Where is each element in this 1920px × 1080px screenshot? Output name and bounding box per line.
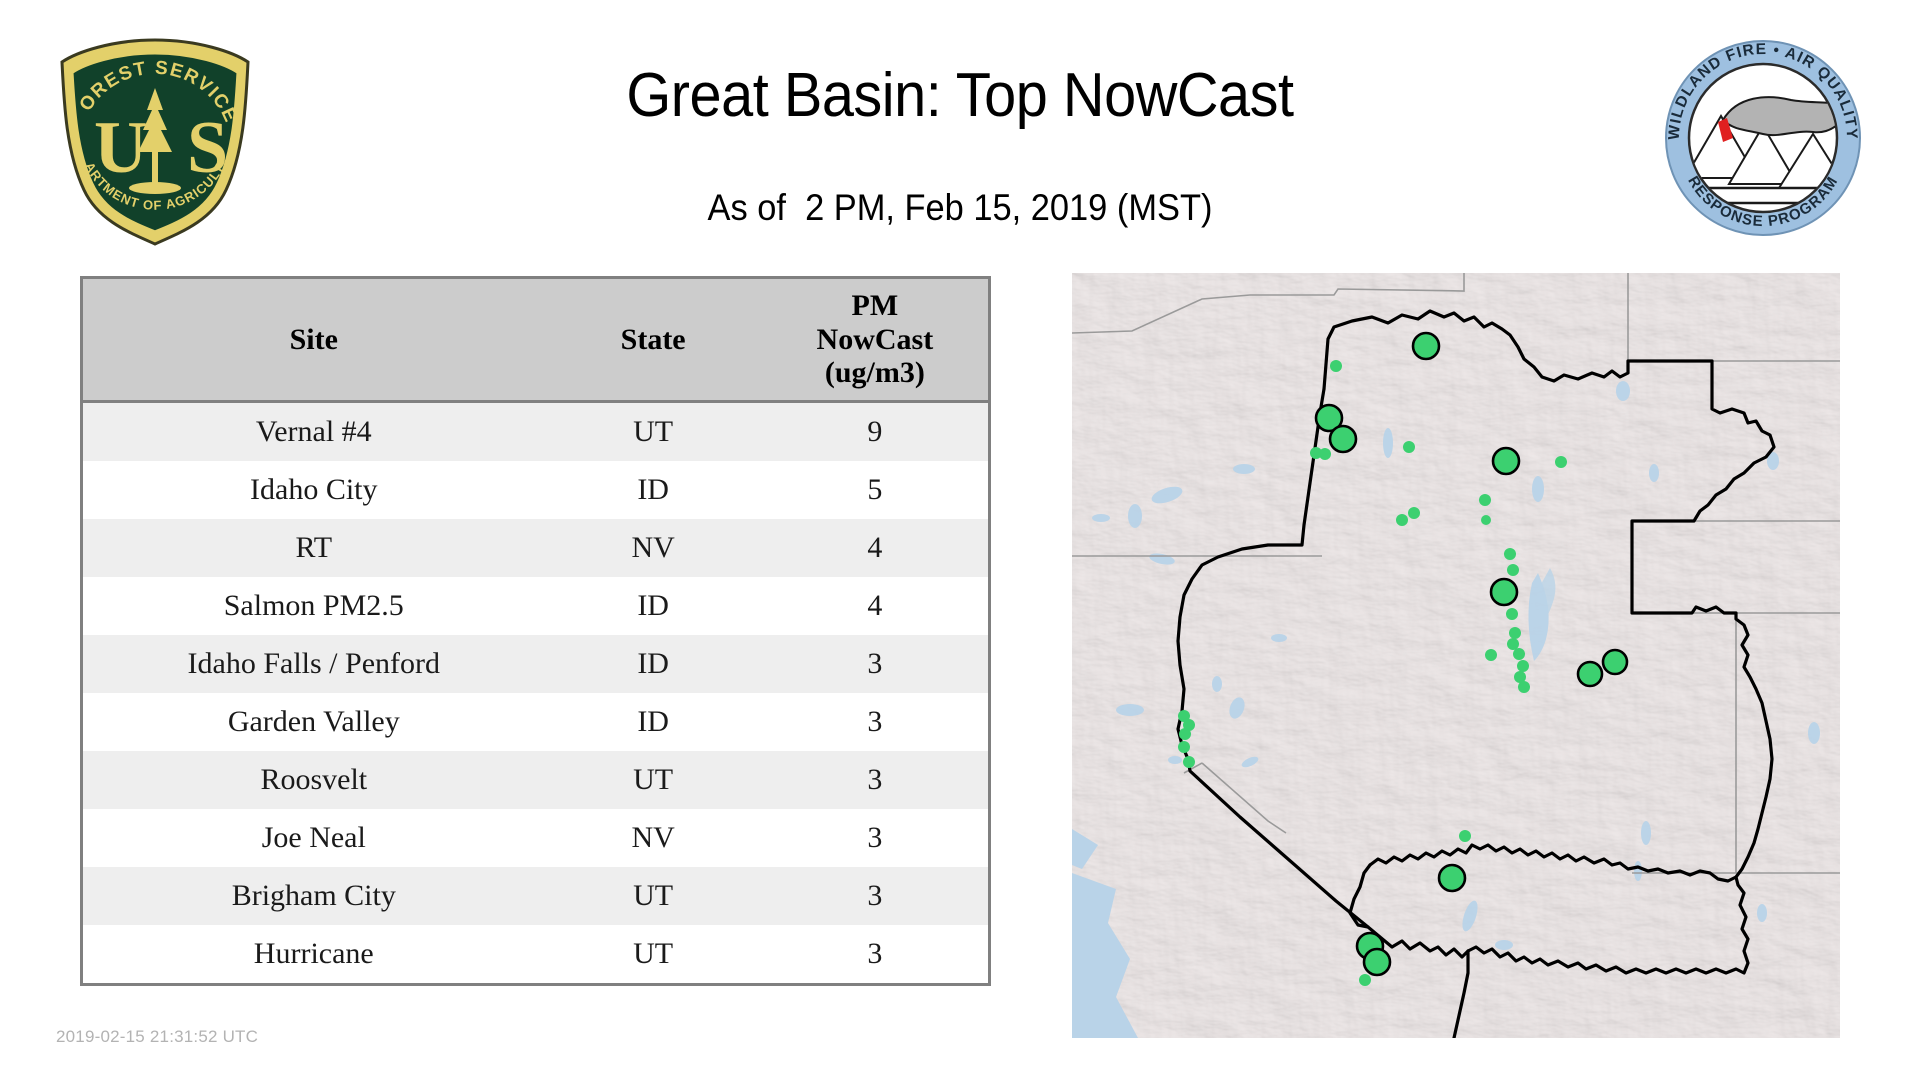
monitor-dot-top[interactable] [1603,650,1627,674]
cell-state: UT [545,401,762,461]
monitor-dot[interactable] [1330,360,1342,372]
monitor-map[interactable] [1072,273,1840,1038]
cell-state: ID [545,693,762,751]
monitor-dot[interactable] [1359,974,1371,986]
table-body: Vernal #4 UT 9 Idaho City ID 5 RT NV 4 S… [83,401,988,983]
monitor-dot[interactable] [1396,514,1408,526]
cell-site: Vernal #4 [83,401,545,461]
cell-value: 3 [762,867,988,925]
table-header-row: Site State PM NowCast (ug/m3) [83,279,988,401]
cell-value: 3 [762,635,988,693]
cell-site: Salmon PM2.5 [83,577,545,635]
monitor-dot[interactable] [1179,728,1191,740]
table-row: RT NV 4 [83,519,988,577]
cell-value: 3 [762,751,988,809]
monitor-dot[interactable] [1485,649,1497,661]
monitor-dot[interactable] [1481,515,1491,525]
monitor-dot[interactable] [1507,638,1519,650]
cell-site: Hurricane [83,925,545,983]
monitor-dot-top[interactable] [1413,333,1439,359]
footer-timestamp: 2019-02-15 21:31:52 UTC [56,1027,258,1047]
monitor-dot[interactable] [1479,494,1491,506]
monitor-dot-top[interactable] [1364,949,1390,975]
column-header-line-3: (ug/m3) [766,356,984,390]
monitor-dot[interactable] [1513,648,1525,660]
cell-value: 3 [762,809,988,867]
column-header-site: Site [83,279,545,401]
cell-site: Idaho City [83,461,545,519]
table-row: Idaho City ID 5 [83,461,988,519]
cell-site: Brigham City [83,867,545,925]
cell-site: Joe Neal [83,809,545,867]
column-header-pm-nowcast: PM NowCast (ug/m3) [762,279,988,401]
cell-state: UT [545,925,762,983]
map-canvas[interactable] [1072,273,1840,1038]
cell-site: Garden Valley [83,693,545,751]
page-subtitle: As of 2 PM, Feb 15, 2019 (MST) [67,185,1853,231]
table-row: Salmon PM2.5 ID 4 [83,577,988,635]
cell-state: NV [545,809,762,867]
table-row: Joe Neal NV 3 [83,809,988,867]
table-row: Hurricane UT 3 [83,925,988,983]
table-row: Vernal #4 UT 9 [83,401,988,461]
table-row: Roosvelt UT 3 [83,751,988,809]
cell-site: Idaho Falls / Penford [83,635,545,693]
cell-state: ID [545,635,762,693]
monitor-dot[interactable] [1408,507,1420,519]
cell-value: 3 [762,925,988,983]
monitor-dot-top[interactable] [1578,662,1602,686]
cell-state: ID [545,461,762,519]
column-header-state: State [545,279,762,401]
cell-state: NV [545,519,762,577]
monitor-dot[interactable] [1518,681,1530,693]
monitor-dot[interactable] [1403,441,1415,453]
monitor-dot[interactable] [1507,564,1519,576]
table-row: Brigham City UT 3 [83,867,988,925]
cell-state: UT [545,867,762,925]
cell-state: ID [545,577,762,635]
monitor-dot[interactable] [1319,448,1331,460]
table-row: Idaho Falls / Penford ID 3 [83,635,988,693]
cell-value: 4 [762,577,988,635]
cell-value: 4 [762,519,988,577]
cell-site: Roosvelt [83,751,545,809]
cell-value: 9 [762,401,988,461]
column-header-line-2: NowCast [766,323,984,357]
monitor-dot[interactable] [1504,548,1516,560]
cell-value: 3 [762,693,988,751]
monitor-dot-top[interactable] [1439,865,1465,891]
monitor-dot[interactable] [1183,756,1195,768]
monitor-dot[interactable] [1517,660,1529,672]
monitor-dot[interactable] [1509,627,1521,639]
table: Site State PM NowCast (ug/m3) Vernal #4 … [83,279,988,983]
monitor-dot[interactable] [1506,608,1518,620]
monitor-dot-top[interactable] [1493,448,1519,474]
page-title: Great Basin: Top NowCast [67,58,1853,134]
cell-state: UT [545,751,762,809]
table-head: Site State PM NowCast (ug/m3) [83,279,988,401]
monitor-dot-top[interactable] [1330,426,1356,452]
monitor-dot[interactable] [1459,830,1471,842]
monitor-dot[interactable] [1178,741,1190,753]
column-header-line-1: PM [766,289,984,323]
monitor-dot-top[interactable] [1491,579,1517,605]
cell-site: RT [83,519,545,577]
top-nowcast-table: Site State PM NowCast (ug/m3) Vernal #4 … [80,276,991,986]
relief-texture-layer-2 [1072,273,1840,1038]
cell-value: 5 [762,461,988,519]
monitor-dot[interactable] [1555,456,1567,468]
table-row: Garden Valley ID 3 [83,693,988,751]
